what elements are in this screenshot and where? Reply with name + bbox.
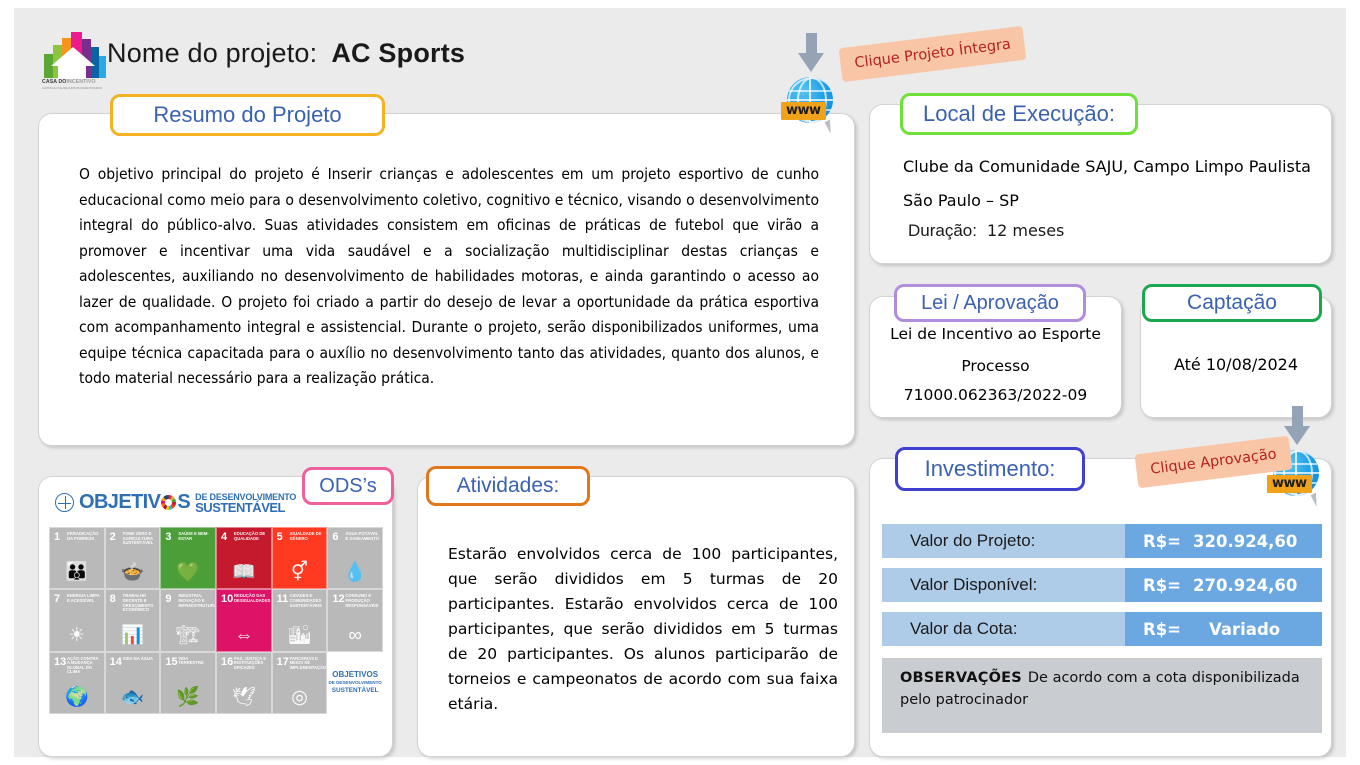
lei-line-1: Lei de Incentivo ao Esporte — [870, 325, 1121, 343]
ods-goal-label: INDÚSTRIA, INOVAÇÃO E INFRAESTRUTURA — [178, 594, 213, 608]
atividades-body: Estarão envolvidos cerca de 100 particip… — [448, 542, 838, 717]
ods-goal-label: CIDADES E COMUNIDADES SUSTENTÁVEIS — [290, 594, 325, 608]
investimento-row: Valor Disponível:R$=270.924,60 — [882, 568, 1322, 602]
ods-goal-number: 17 — [277, 657, 289, 667]
duration-label: Duração: — [908, 221, 977, 240]
lei-line-3: 71000.062363/2022-09 — [870, 386, 1121, 404]
local-line-2: São Paulo – SP — [903, 191, 1019, 210]
ods-goal-glyph-icon: 👪 — [65, 563, 89, 582]
investimento-row-value: R$=320.924,60 — [1125, 524, 1322, 558]
ods-brand-tile-text: OBJETIVOSDE DESENVOLVIMENTOSUSTENTÁVEL — [328, 671, 381, 695]
captacao-value: Até 10/08/2024 — [1141, 355, 1331, 374]
investimento-row-label: Valor Disponível: — [882, 568, 1125, 602]
ods-goal-label: EDUCAÇÃO DE QUALIDADE — [234, 532, 269, 541]
ods-goal-glyph-icon: ☀ — [68, 626, 85, 645]
ods-goal-number: 3 — [165, 532, 171, 542]
ods-goal-12: 12CONSUMO E PRODUÇÃO RESPONSÁVEIS∞ — [327, 589, 383, 651]
lei-aprovacao-title-pill: Lei / Aprovação — [894, 284, 1086, 322]
observacoes-label: OBSERVAÇÕES — [900, 670, 1022, 686]
ods-goal-5: 5IGUALDADE DE GÊNERO⚥ — [272, 527, 328, 589]
ods-goal-10: 10REDUÇÃO DAS DESIGUALDADES⇔ — [216, 589, 272, 651]
ods-goal-16: 16PAZ, JUSTIÇA E INSTITUIÇÕES EFICAZES🕊 — [216, 652, 272, 714]
page-title: Nome do projeto:AC Sports — [107, 38, 465, 69]
amount-text: 270.924,60 — [1193, 576, 1297, 595]
ods-goal-glyph-icon: 🐟 — [121, 688, 145, 707]
ods-goal-14: 14VIDA NA ÁGUA🐟 — [105, 652, 161, 714]
ods-goal-17: 17PARCERIAS E MEIOS DE IMPLEMENTAÇÃO◎ — [272, 652, 328, 714]
atividades-title-pill: Atividades: — [426, 466, 590, 506]
ods-goal-9: 9INDÚSTRIA, INOVAÇÃO E INFRAESTRUTURA🏗 — [160, 589, 216, 651]
lei-line-2: Processo — [870, 357, 1121, 375]
ods-brand-word: OBJETIV S — [79, 491, 190, 514]
ods-goal-label: SAÚDE E BEM-ESTAR — [178, 532, 213, 541]
ods-goal-number: 6 — [332, 532, 338, 542]
summary-title-pill: Resumo do Projeto — [110, 94, 385, 136]
ods-goal-glyph-icon: 📖 — [232, 563, 256, 582]
ods-goal-label: AÇÃO CONTRA A MUDANÇA GLOBAL DO CLIMA — [67, 657, 102, 675]
investimento-row-value: R$=Variado — [1125, 612, 1322, 646]
ods-goal-number: 2 — [110, 532, 116, 542]
ods-goal-3: 3SAÚDE E BEM-ESTAR💚 — [160, 527, 216, 589]
ods-goal-number: 13 — [54, 657, 66, 667]
casa-do-incentivo-logo: CASA DOINCENTIVO CAPTACAO DE RECURSOS IN… — [40, 30, 110, 96]
ods-goal-8: 8TRABALHO DECENTE E CRESCIMENTO ECONÔMIC… — [105, 589, 161, 651]
tag-clique-projeto-integra[interactable]: Clique Projeto Íntegra — [839, 26, 1027, 82]
ods-goal-glyph-icon: ◎ — [291, 688, 308, 707]
ods-goal-label: TRABALHO DECENTE E CRESCIMENTO ECONÔMICO — [123, 594, 158, 612]
project-name-label: Nome do projeto: — [107, 38, 317, 68]
currency-symbol: R$= — [1143, 532, 1181, 551]
ods-goal-number: 1 — [54, 532, 60, 542]
ods-goal-11: 11CIDADES E COMUNIDADES SUSTENTÁVEIS🏙 — [272, 589, 328, 651]
local-duration-row: Duração:12 meses — [908, 221, 1064, 241]
ods-goal-glyph-icon: ∞ — [348, 626, 362, 645]
ods-goal-number: 5 — [277, 532, 283, 542]
arrow-down-icon-integra — [798, 33, 824, 73]
globe-www-icon-integra[interactable]: www — [784, 76, 836, 128]
ods-goal-label: PAZ, JUSTIÇA E INSTITUIÇÕES EFICAZES — [234, 657, 269, 671]
logo-house-icon — [51, 47, 95, 66]
globe-www-label-aprovacao: www — [1267, 475, 1312, 493]
investimento-rows: Valor do Projeto:R$=320.924,60Valor Disp… — [882, 524, 1322, 656]
investimento-card: Valor do Projeto:R$=320.924,60Valor Disp… — [869, 458, 1332, 757]
ods-brand-header: OBJETIV S DE DESENVOLVIMENTO SUSTENTÁVEL — [55, 491, 296, 514]
ods-goal-13: 13AÇÃO CONTRA A MUDANÇA GLOBAL DO CLIMA🌍 — [49, 652, 105, 714]
ods-goal-glyph-icon: 🌿 — [176, 688, 200, 707]
ods-goal-label: ÁGUA POTÁVEL E SANEAMENTO — [345, 532, 380, 541]
investimento-title-pill: Investimento: — [895, 447, 1085, 491]
ods-goal-number: 15 — [165, 657, 177, 667]
investimento-row: Valor da Cota:R$=Variado — [882, 612, 1322, 646]
ods-goal-glyph-icon: 💧 — [343, 563, 367, 582]
currency-symbol: R$= — [1143, 576, 1181, 595]
investimento-row-label: Valor do Projeto: — [882, 524, 1125, 558]
sdg-color-wheel-icon — [161, 495, 176, 510]
ods-goal-7: 7ENERGIA LIMPA E ACESSÍVEL☀ — [49, 589, 105, 651]
ods-goal-number: 4 — [221, 532, 227, 542]
ods-brand-word-text: OBJETIV — [79, 491, 160, 514]
project-name-value: AC Sports — [331, 38, 465, 68]
duration-value: 12 meses — [987, 221, 1064, 240]
slide-canvas: CASA DOINCENTIVO CAPTACAO DE RECURSOS IN… — [14, 8, 1346, 757]
ods-goal-glyph-icon: 🌍 — [65, 688, 89, 707]
ods-goal-glyph-icon: 🕊 — [232, 688, 256, 707]
ods-goal-glyph-icon: ⇔ — [234, 626, 253, 645]
ods-goal-label: VIDA NA ÁGUA — [123, 657, 158, 662]
ods-brand-sub-line2: SUSTENTÁVEL — [195, 503, 296, 513]
ods-goals-grid: 1ERRADICAÇÃO DA POBREZA👪2FOME ZERO E AGR… — [49, 527, 383, 714]
local-line-1: Clube da Comunidade SAJU, Campo Limpo Pa… — [903, 157, 1311, 176]
investimento-row-value: R$=270.924,60 — [1125, 568, 1322, 602]
ods-brand-subtitle: DE DESENVOLVIMENTO SUSTENTÁVEL — [195, 493, 296, 512]
ods-goal-glyph-icon: 🏙 — [287, 626, 311, 645]
ods-goal-label: VIDA TERRESTRE — [178, 657, 213, 666]
ods-goal-number: 9 — [165, 594, 171, 604]
ods-brand-tile: OBJETIVOSDE DESENVOLVIMENTOSUSTENTÁVEL — [327, 652, 383, 714]
ods-goal-number: 10 — [221, 594, 233, 604]
ods-goal-2: 2FOME ZERO E AGRICULTURA SUSTENTÁVEL🍲 — [105, 527, 161, 589]
summary-card: O objetivo principal do projeto é Inseri… — [38, 113, 855, 446]
ods-goal-number: 11 — [277, 594, 289, 604]
investimento-row-label: Valor da Cota: — [882, 612, 1125, 646]
amount-text: 320.924,60 — [1193, 532, 1297, 551]
ods-goal-6: 6ÁGUA POTÁVEL E SANEAMENTO💧 — [327, 527, 383, 589]
ods-goal-15: 15VIDA TERRESTRE🌿 — [160, 652, 216, 714]
observacoes-block: OBSERVAÇÕESDe acordo com a cota disponib… — [882, 658, 1322, 733]
ods-goal-glyph-icon: 🍲 — [121, 563, 145, 582]
ods-goal-4: 4EDUCAÇÃO DE QUALIDADE📖 — [216, 527, 272, 589]
ods-goal-label: PARCERIAS E MEIOS DE IMPLEMENTAÇÃO — [290, 657, 325, 671]
ods-goal-number: 14 — [110, 657, 122, 667]
ods-goal-1: 1ERRADICAÇÃO DA POBREZA👪 — [49, 527, 105, 589]
ods-goal-glyph-icon: 🏗 — [176, 626, 200, 645]
ods-goal-glyph-icon: ⚥ — [291, 563, 308, 582]
atividades-card: Estarão envolvidos cerca de 100 particip… — [417, 476, 855, 757]
logo-wordmark: CASA DOINCENTIVO CAPTACAO DE RECURSOS IN… — [42, 79, 108, 91]
summary-body: O objetivo principal do projeto é Inseri… — [79, 162, 819, 392]
ods-goal-number: 8 — [110, 594, 116, 604]
logo-tagline: CAPTACAO DE RECURSOS INCENTIVADOS — [42, 85, 108, 91]
ods-brand-word-tail: S — [177, 491, 190, 514]
investimento-row: Valor do Projeto:R$=320.924,60 — [882, 524, 1322, 558]
ods-goal-label: ERRADICAÇÃO DA POBREZA — [67, 532, 102, 541]
ods-goal-label: CONSUMO E PRODUÇÃO RESPONSÁVEIS — [345, 594, 380, 608]
ods-goal-label: REDUÇÃO DAS DESIGUALDADES — [234, 594, 269, 603]
ods-card: OBJETIV S DE DESENVOLVIMENTO SUSTENTÁVEL… — [38, 476, 393, 757]
un-emblem-icon — [55, 493, 74, 512]
logo-house-body — [58, 65, 86, 79]
ods-goal-glyph-icon: 💚 — [176, 563, 200, 582]
captacao-title-pill: Captação — [1142, 284, 1322, 322]
currency-symbol: R$= — [1143, 620, 1181, 639]
ods-goal-label: IGUALDADE DE GÊNERO — [290, 532, 325, 541]
ods-goal-glyph-icon: 📊 — [121, 626, 145, 645]
ods-goal-number: 7 — [54, 594, 60, 604]
local-execucao-title-pill: Local de Execução: — [900, 93, 1138, 135]
ods-goal-label: FOME ZERO E AGRICULTURA SUSTENTÁVEL — [123, 532, 158, 546]
ods-goal-label: ENERGIA LIMPA E ACESSÍVEL — [67, 594, 102, 603]
ods-goal-number: 16 — [221, 657, 233, 667]
ods-title-pill: ODS’s — [302, 467, 394, 505]
ods-goal-number: 12 — [332, 594, 344, 604]
globe-www-label-integra: www — [781, 102, 826, 120]
amount-text: Variado — [1209, 620, 1280, 639]
